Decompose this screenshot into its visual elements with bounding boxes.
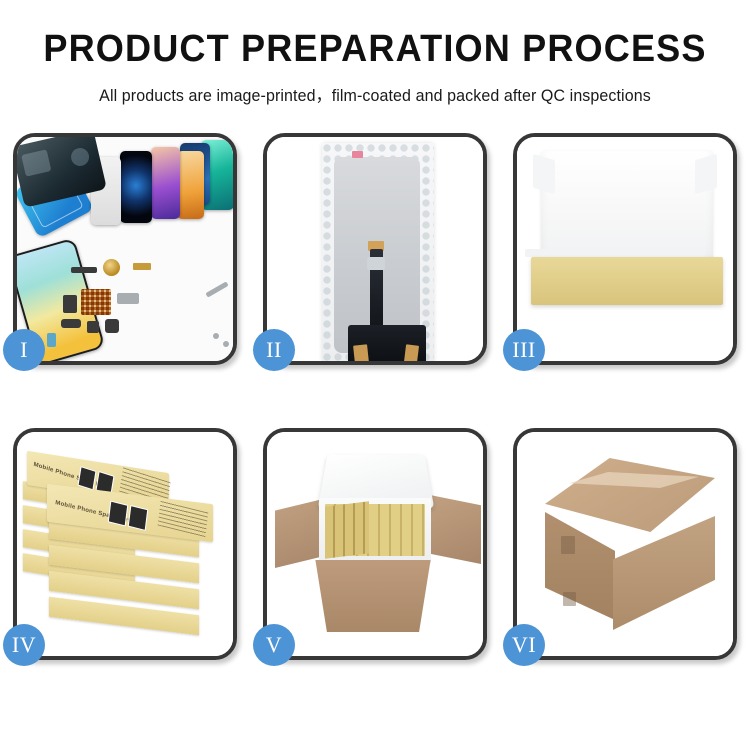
box-spec-lines-front <box>158 500 209 537</box>
carton-hand-hole-upper <box>561 536 575 554</box>
step-panel-1[interactable]: I <box>13 133 237 365</box>
step-badge-3: III <box>503 329 545 371</box>
box-art-phone-a <box>78 466 97 490</box>
foam-wing-left <box>533 154 555 194</box>
screw-part-a <box>213 333 219 339</box>
earpiece-mesh-part <box>71 267 97 273</box>
step-panel-3[interactable]: III <box>513 133 737 365</box>
step-panel-2[interactable]: II <box>263 133 487 365</box>
yellow-boxes-angled <box>325 501 369 558</box>
driver-ic <box>367 257 385 270</box>
purple-screen-phone <box>151 147 180 219</box>
lower-flex-assembly <box>348 325 426 361</box>
chip-array-part <box>81 289 111 315</box>
black-burst-screen <box>120 151 152 223</box>
camera-module-part <box>105 319 119 333</box>
speaker-part <box>103 259 120 276</box>
page-subtitle: All products are image-printed，film-coat… <box>11 82 739 106</box>
step-image-4: Mobile Phone Spare Parts Mobile Phone Sp… <box>17 432 233 656</box>
connector-part-a <box>63 295 77 313</box>
page-header: PRODUCT PREPARATION PROCESS All products… <box>0 0 750 106</box>
step-image-5 <box>267 432 483 656</box>
flex-cable-part <box>61 319 81 328</box>
yellow-box-tray <box>531 257 723 305</box>
lcd-screen-assembly <box>334 157 420 353</box>
pink-qc-label <box>352 151 363 158</box>
step-image-6 <box>517 432 733 656</box>
carton-body <box>309 560 437 632</box>
step-badge-5: V <box>253 624 295 666</box>
process-steps-grid: I II <box>13 133 737 660</box>
foam-wing-right <box>695 154 717 194</box>
step-image-1 <box>17 137 233 361</box>
bubble-wrapped-screen-illustration <box>267 137 483 361</box>
box-art-phone-d <box>128 505 149 531</box>
battery-connector-part <box>47 333 56 347</box>
page-title: PRODUCT PREPARATION PROCESS <box>19 30 732 68</box>
tweezers-tool <box>205 281 228 297</box>
stacked-boxes-illustration: Mobile Phone Spare Parts Mobile Phone Sp… <box>17 432 233 656</box>
step-image-2 <box>267 137 483 361</box>
amber-screen-phone <box>177 151 204 219</box>
phone-parts-illustration <box>17 137 233 361</box>
step-badge-6: VI <box>503 624 545 666</box>
bubble-wrap-sleeve <box>322 143 434 361</box>
carton-loading-illustration <box>267 432 483 656</box>
gold-flex-part <box>133 263 151 270</box>
step-panel-6[interactable]: VI <box>513 428 737 660</box>
screw-part-b <box>223 341 229 347</box>
carton-left-face <box>545 512 615 620</box>
step-badge-2: II <box>253 329 295 371</box>
carton-right-face <box>613 516 715 630</box>
button-part <box>87 321 99 333</box>
inner-box-illustration <box>517 137 733 361</box>
shield-plate-part <box>117 293 139 304</box>
step-badge-4: IV <box>3 624 45 666</box>
box-art-phone-c <box>108 501 129 527</box>
step-panel-5[interactable]: V <box>263 428 487 660</box>
sealed-carton-illustration <box>517 432 733 656</box>
step-image-3 <box>517 137 733 361</box>
step-panel-4[interactable]: Mobile Phone Spare Parts Mobile Phone Sp… <box>13 428 237 660</box>
foam-rim <box>525 249 705 257</box>
carton-top-face <box>545 458 715 532</box>
step-badge-1: I <box>3 329 45 371</box>
carton-hand-hole-lower <box>563 592 576 606</box>
